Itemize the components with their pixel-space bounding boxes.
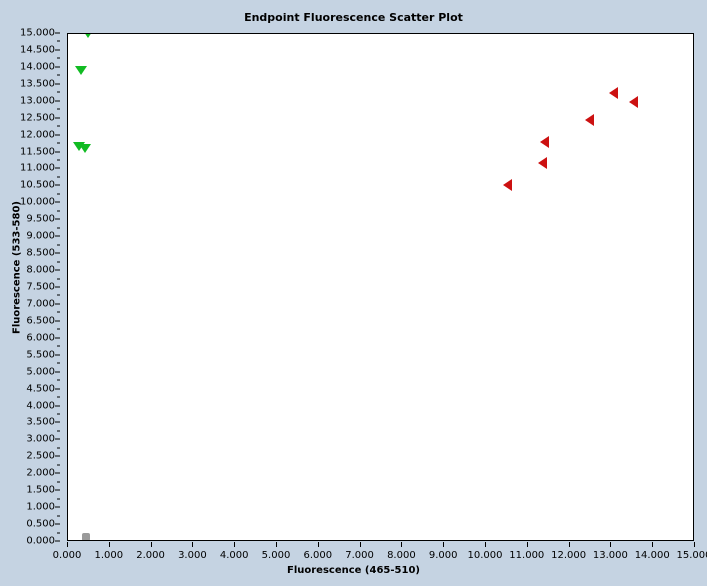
- x-axis-title: Fluorescence (465-510): [0, 565, 707, 576]
- x-tick-mark: [234, 542, 235, 547]
- y-tick-label: 1.000: [5, 502, 55, 513]
- y-tick-label: 10.000: [5, 197, 55, 208]
- y-tick-label: 0.500: [5, 519, 55, 530]
- y-tick-mark: [55, 473, 60, 474]
- y-tick-mark: [55, 337, 60, 338]
- marker-glyph: [585, 114, 594, 126]
- y-tick-mark: [55, 439, 60, 440]
- marker-glyph: [79, 144, 91, 153]
- y-tick-label: 8.500: [5, 248, 55, 259]
- y-tick-mark-minor: [57, 295, 60, 296]
- y-tick-label: 11.000: [5, 163, 55, 174]
- y-tick-mark: [55, 49, 60, 50]
- y-tick-label: 8.000: [5, 265, 55, 276]
- y-tick-mark-minor: [57, 447, 60, 448]
- y-tick-label: 6.000: [5, 332, 55, 343]
- y-tick-label: 3.500: [5, 417, 55, 428]
- y-tick-label: 12.500: [5, 112, 55, 123]
- y-tick-label: 13.500: [5, 78, 55, 89]
- y-tick-label: 2.000: [5, 468, 55, 479]
- y-tick-mark: [55, 456, 60, 457]
- y-tick-mark: [55, 168, 60, 169]
- y-tick-mark-minor: [57, 498, 60, 499]
- y-tick-mark: [55, 117, 60, 118]
- x-tick-mark: [151, 542, 152, 547]
- page-title: Endpoint Fluorescence Scatter Plot: [0, 11, 707, 24]
- y-tick-label: 13.000: [5, 95, 55, 106]
- y-tick-mark-minor: [57, 261, 60, 262]
- y-tick-mark: [55, 388, 60, 389]
- y-tick-label: 5.500: [5, 349, 55, 360]
- x-tick-mark: [360, 542, 361, 547]
- y-tick-mark-minor: [57, 176, 60, 177]
- y-tick-mark: [55, 422, 60, 423]
- x-tick-mark: [569, 542, 570, 547]
- x-tick-mark: [318, 542, 319, 547]
- y-tick-mark: [55, 287, 60, 288]
- y-tick-mark: [55, 100, 60, 101]
- y-tick-mark-minor: [57, 109, 60, 110]
- y-tick-mark: [55, 270, 60, 271]
- y-tick-mark-minor: [57, 193, 60, 194]
- y-tick-label: 11.500: [5, 146, 55, 157]
- y-tick-mark: [55, 405, 60, 406]
- x-tick-mark: [443, 542, 444, 547]
- y-tick-label: 6.500: [5, 315, 55, 326]
- y-tick-label: 9.000: [5, 231, 55, 242]
- x-tick-mark: [109, 542, 110, 547]
- y-tick-mark-minor: [57, 329, 60, 330]
- y-tick-label: 14.500: [5, 44, 55, 55]
- y-tick-mark: [55, 524, 60, 525]
- y-tick-label: 4.000: [5, 400, 55, 411]
- y-tick-label: 14.000: [5, 61, 55, 72]
- marker-glyph: [629, 96, 638, 108]
- y-tick-mark-minor: [57, 532, 60, 533]
- marker-glyph: [82, 33, 94, 38]
- y-tick-label: 9.500: [5, 214, 55, 225]
- y-tick-mark: [55, 303, 60, 304]
- y-tick-mark-minor: [57, 160, 60, 161]
- marker-glyph: [609, 87, 618, 99]
- y-tick-mark-minor: [57, 430, 60, 431]
- y-tick-label: 10.500: [5, 180, 55, 191]
- y-tick-label: 3.000: [5, 434, 55, 445]
- y-tick-label: 1.500: [5, 485, 55, 496]
- marker-glyph: [75, 66, 87, 75]
- x-tick-mark: [67, 542, 68, 547]
- y-tick-label: 5.000: [5, 366, 55, 377]
- y-tick-label: 15.000: [5, 28, 55, 39]
- y-tick-mark-minor: [57, 143, 60, 144]
- y-tick-mark-minor: [57, 244, 60, 245]
- y-tick-label: 7.500: [5, 282, 55, 293]
- y-tick-mark-minor: [57, 92, 60, 93]
- y-tick-mark: [55, 134, 60, 135]
- y-tick-mark-minor: [57, 278, 60, 279]
- y-tick-mark: [55, 185, 60, 186]
- y-tick-mark-minor: [57, 515, 60, 516]
- y-tick-mark-minor: [57, 75, 60, 76]
- y-tick-mark-minor: [57, 227, 60, 228]
- marker-glyph: [82, 533, 90, 541]
- y-tick-mark-minor: [57, 481, 60, 482]
- x-tick-mark: [610, 542, 611, 547]
- y-tick-mark-minor: [57, 41, 60, 42]
- x-tick-mark: [192, 542, 193, 547]
- y-tick-mark: [55, 253, 60, 254]
- y-tick-mark-minor: [57, 363, 60, 364]
- y-tick-mark-minor: [57, 414, 60, 415]
- y-tick-mark: [55, 354, 60, 355]
- scatter-plot-window: Endpoint Fluorescence Scatter Plot Fluor…: [0, 0, 707, 586]
- y-tick-mark-minor: [57, 346, 60, 347]
- y-tick-mark: [55, 320, 60, 321]
- y-tick-label: 7.000: [5, 298, 55, 309]
- marker-glyph: [540, 136, 549, 148]
- y-tick-label: 4.500: [5, 383, 55, 394]
- y-tick-mark: [55, 219, 60, 220]
- marker-glyph: [538, 157, 547, 169]
- x-tick-mark: [527, 542, 528, 547]
- marker-glyph: [503, 179, 512, 191]
- y-tick-mark: [55, 507, 60, 508]
- y-tick-mark: [55, 371, 60, 372]
- y-tick-mark: [55, 202, 60, 203]
- y-tick-mark: [55, 236, 60, 237]
- y-tick-mark: [55, 66, 60, 67]
- y-tick-mark-minor: [57, 397, 60, 398]
- y-tick-label: 2.500: [5, 451, 55, 462]
- y-tick-mark-minor: [57, 312, 60, 313]
- y-axis: 0.0000.5001.0001.5002.0002.5003.0003.500…: [0, 0, 67, 586]
- x-tick-label: 15.000: [664, 550, 707, 561]
- x-tick-mark: [401, 542, 402, 547]
- x-tick-mark: [485, 542, 486, 547]
- y-tick-mark: [55, 83, 60, 84]
- y-tick-mark: [55, 490, 60, 491]
- y-tick-mark-minor: [57, 126, 60, 127]
- y-tick-mark-minor: [57, 464, 60, 465]
- y-tick-mark: [55, 33, 60, 34]
- y-tick-mark-minor: [57, 380, 60, 381]
- x-tick-mark: [652, 542, 653, 547]
- y-tick-mark-minor: [57, 210, 60, 211]
- x-axis: Fluorescence (465-510) 0.0001.0002.0003.…: [0, 541, 707, 586]
- plot-area: [67, 33, 694, 541]
- y-tick-mark: [55, 151, 60, 152]
- y-tick-mark-minor: [57, 58, 60, 59]
- x-tick-mark: [276, 542, 277, 547]
- y-tick-label: 12.000: [5, 129, 55, 140]
- x-tick-mark: [694, 542, 695, 547]
